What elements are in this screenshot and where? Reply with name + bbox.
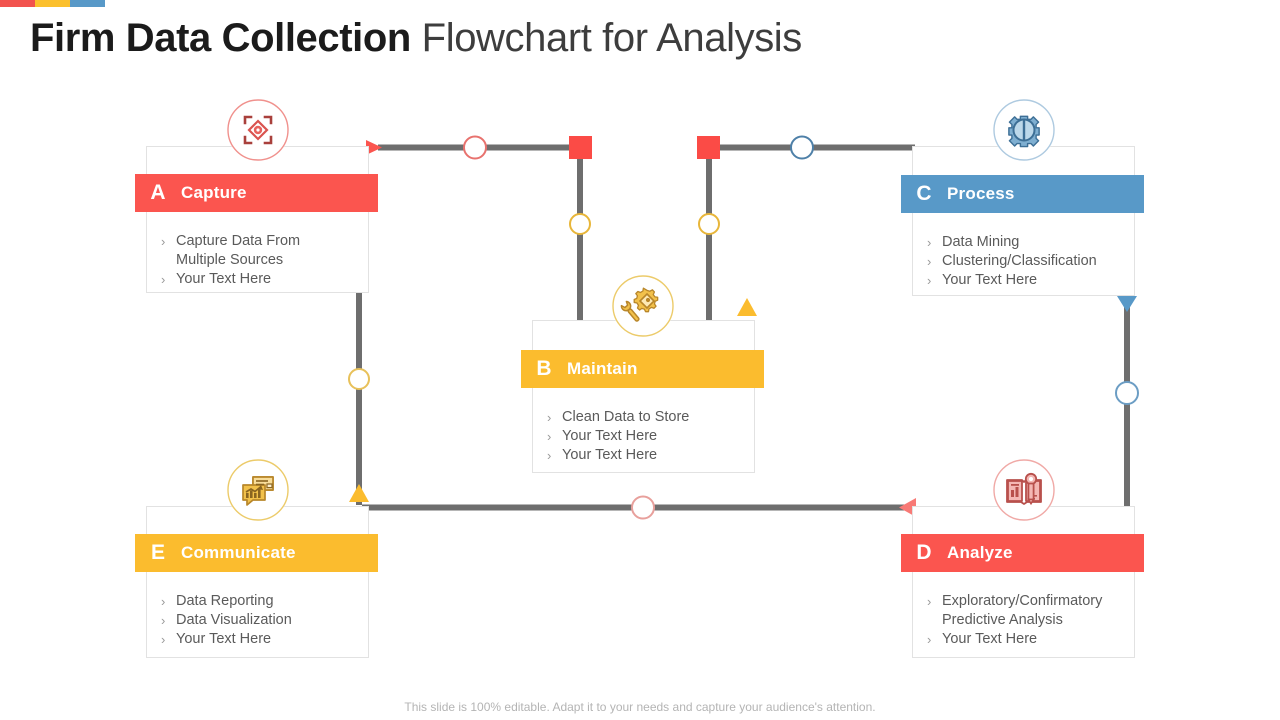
chevron-right-icon: ›: [161, 232, 176, 251]
card-process[interactable]: C Process ›Data Mining ›Clustering/Class…: [912, 146, 1135, 296]
card-capture-letter: A: [135, 181, 181, 205]
node-circle-yellow-left-b: [570, 214, 590, 234]
list-item: ›Your Text Here: [547, 427, 740, 446]
chart-presentation-icon: [227, 459, 289, 521]
card-capture[interactable]: A Capture ›Capture Data From Multiple So…: [146, 146, 369, 293]
arrow-up-yellow-maintain: [737, 298, 757, 316]
chevron-right-icon: ›: [927, 271, 942, 290]
list-item: ›Your Text Here: [161, 270, 354, 289]
card-analyze[interactable]: D Analyze ›Exploratory/Confirmatory Pred…: [912, 506, 1135, 658]
gear-wrench-icon: [612, 275, 674, 337]
chevron-right-icon: ›: [547, 427, 562, 446]
footer-note: This slide is 100% editable. Adapt it to…: [0, 700, 1280, 714]
bullet-text: Data Mining: [942, 233, 1120, 252]
gear-icon: [993, 99, 1055, 161]
card-maintain-title: Maintain: [567, 359, 638, 379]
card-capture-body: ›Capture Data From Multiple Sources ›You…: [147, 220, 368, 299]
chevron-right-icon: ›: [161, 270, 176, 289]
card-analyze-header: D Analyze: [901, 534, 1144, 572]
arrow-up-yellow-communicate: [349, 484, 369, 502]
list-item: ›Your Text Here: [927, 630, 1120, 649]
card-process-title: Process: [947, 184, 1015, 204]
node-circle-blue-right: [1116, 382, 1138, 404]
card-capture-title: Capture: [181, 183, 247, 203]
card-capture-bullets: ›Capture Data From Multiple Sources ›You…: [161, 232, 354, 289]
card-analyze-bullets: ›Exploratory/Confirmatory Predictive Ana…: [927, 592, 1120, 649]
card-maintain-letter: B: [521, 357, 567, 381]
card-communicate-bullets: ›Data Reporting ›Data Visualization ›You…: [161, 592, 354, 649]
list-item: ›Data Reporting: [161, 592, 354, 611]
list-item: ›Your Text Here: [547, 446, 740, 465]
list-item: ›Clean Data to Store: [547, 408, 740, 427]
card-maintain-body: ›Clean Data to Store ›Your Text Here ›Yo…: [533, 396, 754, 475]
target-focus-icon: [227, 99, 289, 161]
card-analyze-icon-badge: [993, 459, 1055, 521]
chevron-right-icon: ›: [927, 592, 942, 611]
node-circle-red-bottom: [632, 497, 654, 519]
card-capture-icon-badge: [227, 99, 289, 161]
card-process-icon-badge: [993, 99, 1055, 161]
bullet-text: Your Text Here: [176, 270, 354, 289]
card-analyze-letter: D: [901, 541, 947, 565]
card-capture-header: A Capture: [135, 174, 378, 212]
card-maintain-header: B Maintain: [521, 350, 764, 388]
card-maintain-bullets: ›Clean Data to Store ›Your Text Here ›Yo…: [547, 408, 740, 465]
node-circle-yellow-right-b: [699, 214, 719, 234]
card-communicate-header: E Communicate: [135, 534, 378, 572]
bullet-text: Clustering/Classification: [942, 252, 1120, 271]
bullet-text: Your Text Here: [942, 630, 1120, 649]
bullet-text: Your Text Here: [942, 271, 1120, 290]
node-circle-yellow-left: [349, 369, 369, 389]
card-analyze-title: Analyze: [947, 543, 1013, 563]
square-red-right: [697, 136, 720, 159]
card-communicate-letter: E: [135, 541, 181, 565]
bullet-text: Capture Data From Multiple Sources: [176, 232, 354, 270]
bullet-text: Exploratory/Confirmatory Predictive Anal…: [942, 592, 1120, 630]
chevron-right-icon: ›: [161, 611, 176, 630]
list-item: ›Clustering/Classification: [927, 252, 1120, 271]
chevron-right-icon: ›: [927, 630, 942, 649]
bullet-text: Your Text Here: [176, 630, 354, 649]
chevron-right-icon: ›: [547, 446, 562, 465]
list-item: ›Data Visualization: [161, 611, 354, 630]
card-communicate-body: ›Data Reporting ›Data Visualization ›You…: [147, 580, 368, 659]
card-process-bullets: ›Data Mining ›Clustering/Classification …: [927, 233, 1120, 290]
bullet-text: Clean Data to Store: [562, 408, 740, 427]
card-analyze-body: ›Exploratory/Confirmatory Predictive Ana…: [913, 580, 1134, 659]
node-circle-red-top-left: [464, 137, 486, 159]
chevron-right-icon: ›: [161, 630, 176, 649]
list-item: ›Your Text Here: [927, 271, 1120, 290]
chevron-right-icon: ›: [161, 592, 176, 611]
card-communicate-icon-badge: [227, 459, 289, 521]
card-process-header: C Process: [901, 175, 1144, 213]
bullet-text: Data Reporting: [176, 592, 354, 611]
chevron-right-icon: ›: [547, 408, 562, 427]
slide-canvas: Firm Data Collection Flowchart for Analy…: [0, 0, 1280, 720]
bullet-text: Your Text Here: [562, 446, 740, 465]
bullet-text: Data Visualization: [176, 611, 354, 630]
bullet-text: Your Text Here: [562, 427, 740, 446]
card-process-body: ›Data Mining ›Clustering/Classification …: [913, 221, 1134, 300]
list-item: ›Your Text Here: [161, 630, 354, 649]
book-research-icon: [993, 459, 1055, 521]
card-process-letter: C: [901, 182, 947, 206]
chevron-right-icon: ›: [927, 252, 942, 271]
chevron-right-icon: ›: [927, 233, 942, 252]
square-red-left: [569, 136, 592, 159]
list-item: ›Data Mining: [927, 233, 1120, 252]
card-maintain-icon-badge: [612, 275, 674, 337]
list-item: ›Capture Data From Multiple Sources: [161, 232, 354, 270]
card-communicate-title: Communicate: [181, 543, 296, 563]
node-circle-blue-top: [791, 137, 813, 159]
card-communicate[interactable]: E Communicate ›Data Reporting ›Data Visu…: [146, 506, 369, 658]
card-maintain[interactable]: B Maintain ›Clean Data to Store ›Your Te…: [532, 320, 755, 473]
list-item: ›Exploratory/Confirmatory Predictive Ana…: [927, 592, 1120, 630]
